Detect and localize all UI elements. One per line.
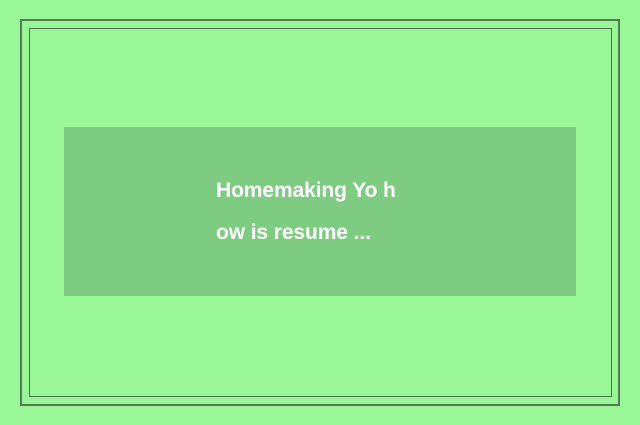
slide-canvas: Homemaking Yo h ow is resume ... [0,0,640,425]
caption-text: Homemaking Yo h ow is resume ... [64,170,576,254]
caption-panel: Homemaking Yo h ow is resume ... [64,127,576,296]
